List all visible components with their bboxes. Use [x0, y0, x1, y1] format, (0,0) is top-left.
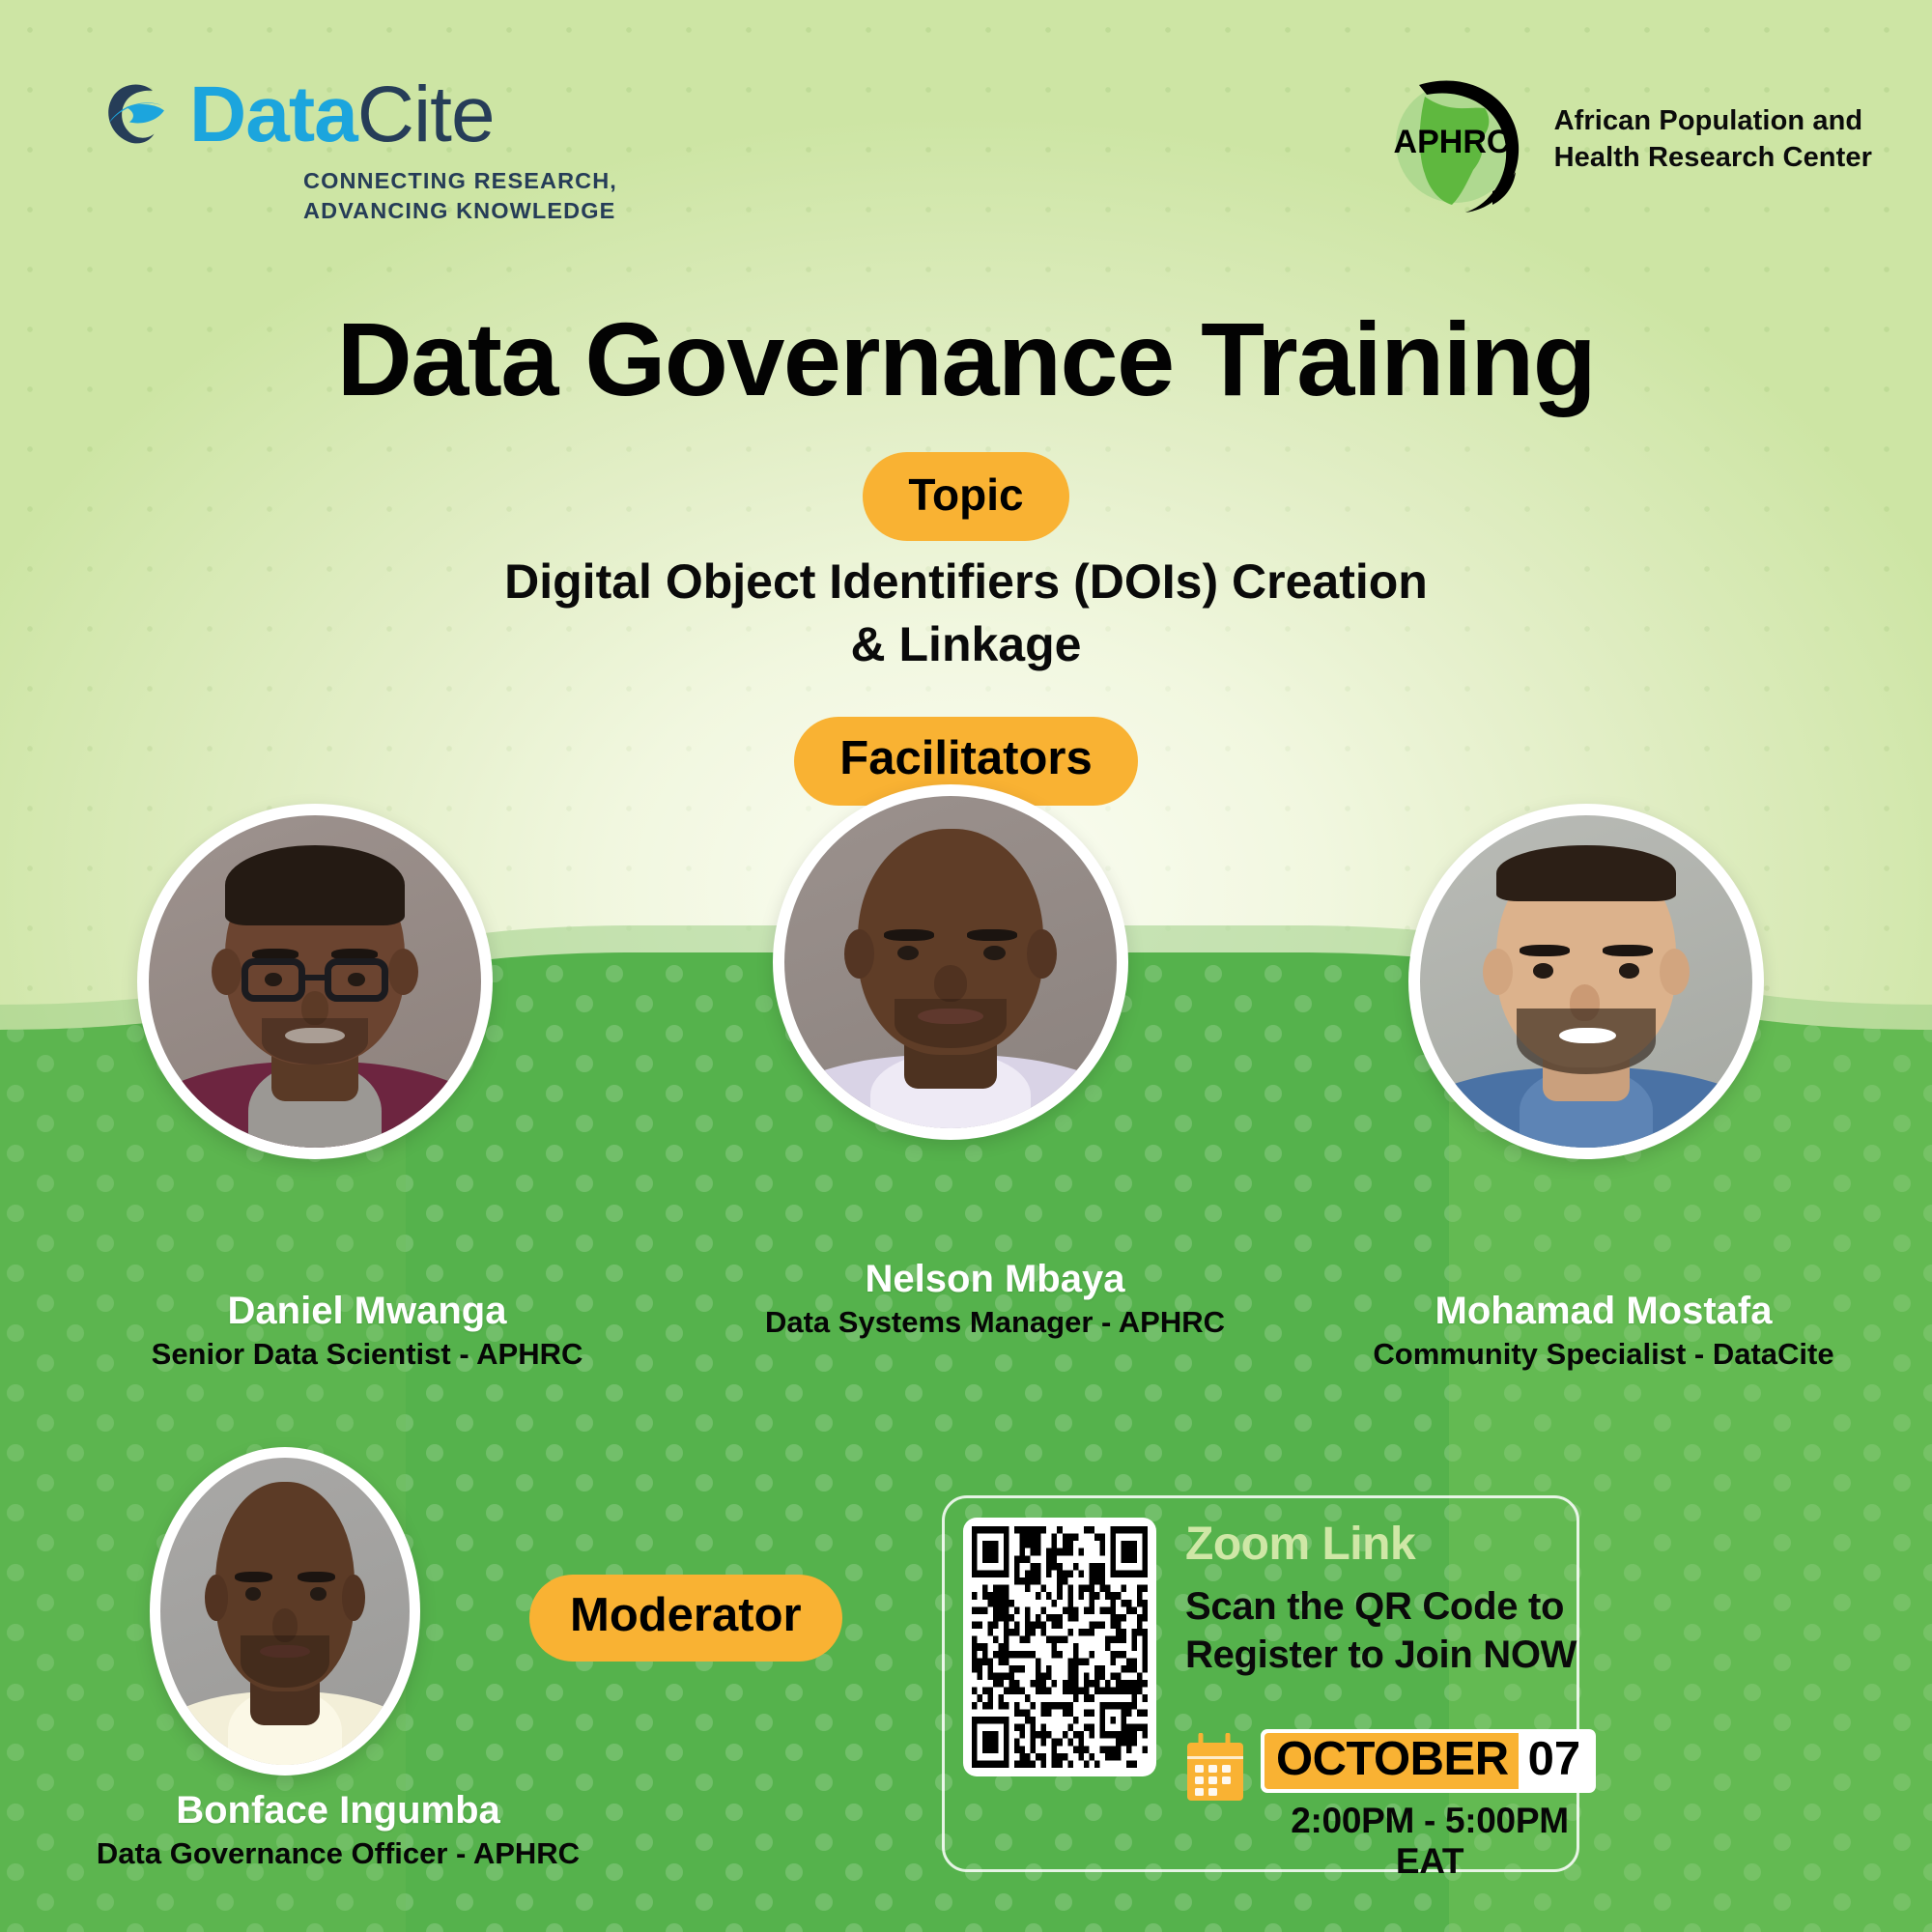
zoom-instruction-line-2: Register to Join NOW	[1185, 1631, 1591, 1679]
facilitator-name-3: Mohamad Mostafa	[1294, 1290, 1913, 1333]
zoom-instruction-line-1: Scan the QR Code to	[1185, 1582, 1591, 1631]
facilitator-role-2: Data Systems Manager - APHRC	[686, 1304, 1304, 1340]
page-title: Data Governance Training	[0, 307, 1932, 412]
datacite-wordmark: DataCite	[189, 75, 495, 155]
event-date-stack: OCTOBER 07 2:00PM - 5:00PM EAT	[1261, 1729, 1599, 1882]
zoom-link-title: Zoom Link	[1185, 1521, 1415, 1568]
topic-pill: Topic	[863, 452, 1068, 541]
event-date-badge: OCTOBER 07	[1261, 1729, 1596, 1793]
topic-pill-row: Topic	[0, 452, 1932, 541]
event-date-row: OCTOBER 07 2:00PM - 5:00PM EAT	[1183, 1729, 1599, 1882]
facilitator-caption-1: Daniel Mwanga Senior Data Scientist - AP…	[58, 1290, 676, 1372]
calendar-icon	[1183, 1733, 1247, 1804]
poster-canvas: DataCite CONNECTING RESEARCH, ADVANCING …	[0, 0, 1932, 1932]
moderator-pill-row: Moderator	[529, 1575, 842, 1662]
aphrc-name: African Population and Health Research C…	[1554, 103, 1872, 176]
datacite-logo: DataCite CONNECTING RESEARCH, ADVANCING …	[93, 75, 634, 230]
zoom-instructions: Scan the QR Code to Register to Join NOW	[1185, 1582, 1591, 1680]
facilitator-role-3: Community Specialist - DataCite	[1294, 1336, 1913, 1372]
facilitator-name-1: Daniel Mwanga	[58, 1290, 676, 1333]
facilitator-avatar-2	[773, 784, 1128, 1140]
datacite-orbit-icon	[93, 77, 176, 153]
event-time: 2:00PM - 5:00PM EAT	[1261, 1801, 1599, 1882]
topic-line-1: Digital Object Identifiers (DOIs) Creati…	[0, 551, 1932, 613]
event-day: 07	[1519, 1733, 1593, 1789]
datacite-tagline-line1: CONNECTING RESEARCH,	[303, 166, 634, 196]
moderator-name: Bonface Ingumba	[0, 1789, 705, 1833]
moderator-caption: Bonface Ingumba Data Governance Officer …	[0, 1789, 705, 1871]
topic-line-2: & Linkage	[0, 613, 1932, 676]
datacite-tagline: CONNECTING RESEARCH, ADVANCING KNOWLEDGE	[303, 166, 634, 226]
facilitator-caption-3: Mohamad Mostafa Community Specialist - D…	[1294, 1290, 1913, 1372]
facilitator-caption-2: Nelson Mbaya Data Systems Manager - APHR…	[686, 1258, 1304, 1340]
zoom-registration-panel: Zoom Link Scan the QR Code to Register t…	[942, 1495, 1599, 1872]
svg-text:APHRC: APHRC	[1393, 124, 1510, 160]
moderator-avatar	[150, 1447, 420, 1776]
qr-code[interactable]	[972, 1526, 1148, 1768]
topic-text: Digital Object Identifiers (DOIs) Creati…	[0, 551, 1932, 676]
facilitator-avatar-3	[1408, 804, 1764, 1159]
event-month: OCTOBER	[1264, 1733, 1519, 1789]
aphrc-globe-africa-icon: APHRC	[1392, 68, 1537, 213]
aphrc-name-line1: African Population and	[1554, 103, 1872, 140]
facilitator-name-2: Nelson Mbaya	[686, 1258, 1304, 1301]
facilitator-role-1: Senior Data Scientist - APHRC	[58, 1336, 676, 1372]
datacite-word-data: Data	[189, 71, 357, 158]
datacite-tagline-line2: ADVANCING KNOWLEDGE	[303, 196, 634, 226]
datacite-word-cite: Cite	[357, 71, 495, 158]
moderator-pill: Moderator	[529, 1575, 842, 1662]
facilitator-avatar-1	[137, 804, 493, 1159]
qr-code-card[interactable]	[963, 1518, 1156, 1776]
aphrc-name-line2: Health Research Center	[1554, 140, 1872, 177]
aphrc-logo: APHRC African Population and Health Rese…	[1392, 68, 1872, 213]
moderator-role: Data Governance Officer - APHRC	[0, 1835, 705, 1871]
